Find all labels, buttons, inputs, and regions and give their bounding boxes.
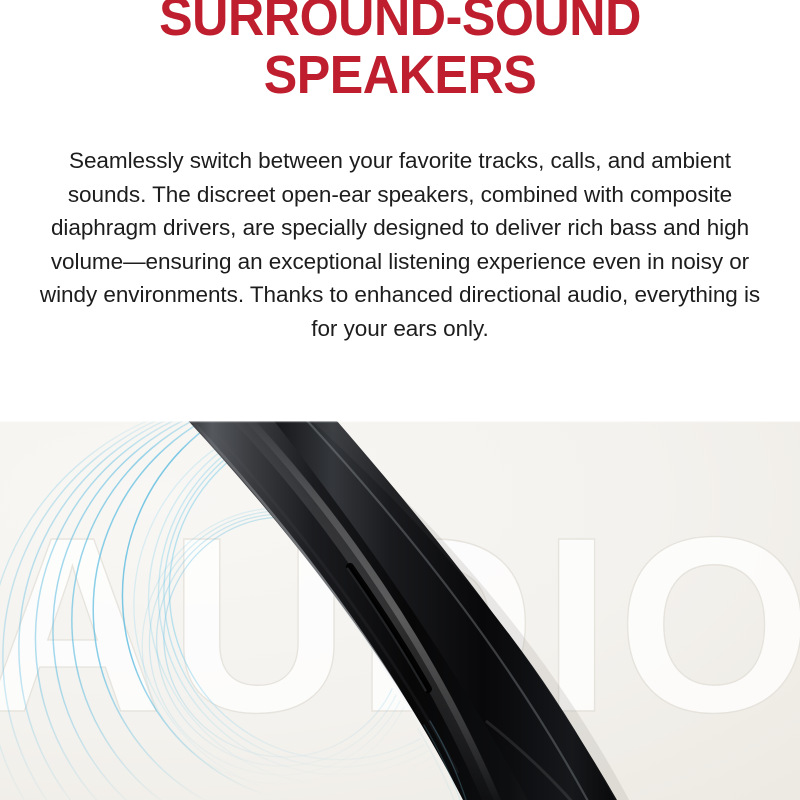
feature-description: Seamlessly switch between your favorite … [34, 144, 766, 345]
page-title: SURROUND-SOUND SPEAKERS [28, 0, 772, 104]
panel-top-edge [0, 421, 800, 422]
hero-illustration: AUDIO [0, 421, 800, 800]
product-feature-card: SURROUND-SOUND SPEAKERS Seamlessly switc… [0, 0, 800, 800]
text-panel: SURROUND-SOUND SPEAKERS Seamlessly switc… [0, 0, 800, 421]
hero-image-panel: AUDIO [0, 421, 800, 800]
